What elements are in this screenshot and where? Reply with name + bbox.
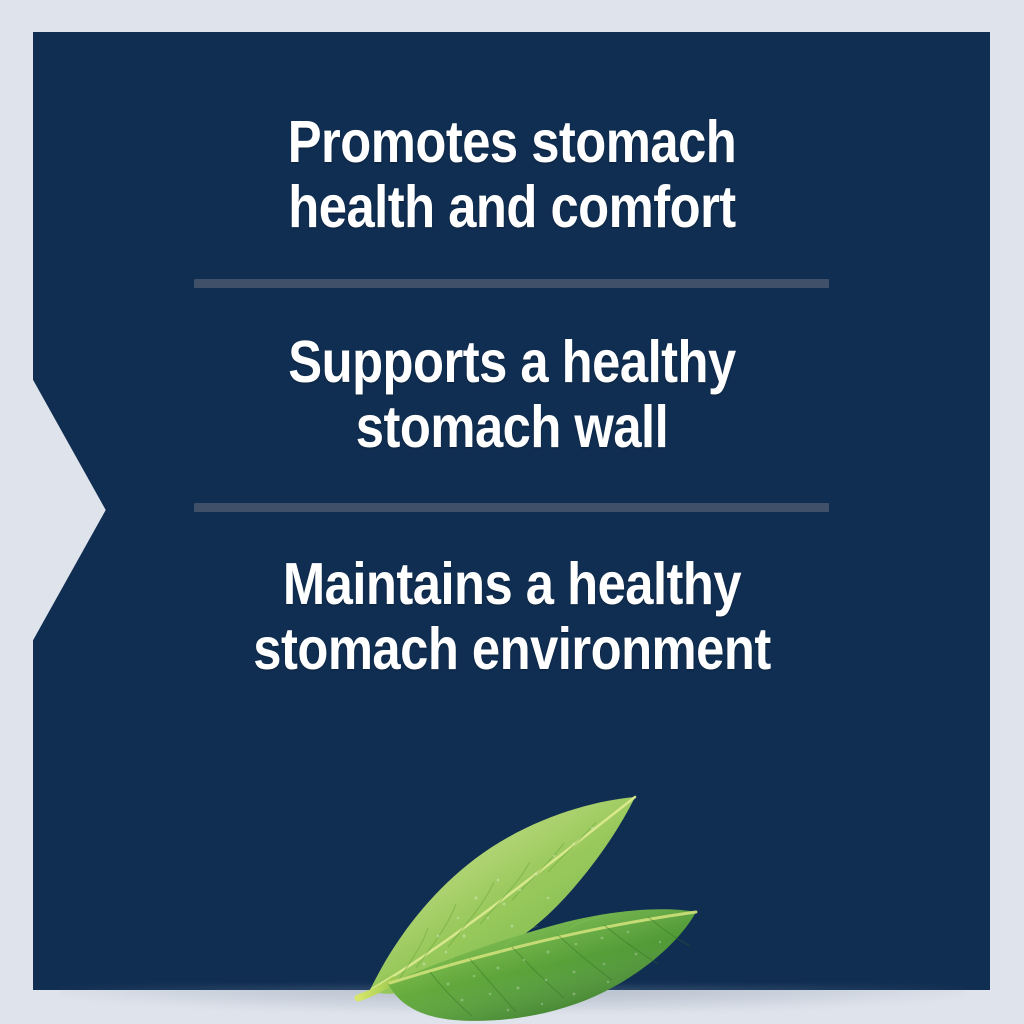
benefit-item-2: Supports a healthy stomach wall bbox=[228, 330, 796, 461]
benefits-card: Promotes stomach health and comfort Supp… bbox=[0, 0, 1024, 1024]
benefit-divider-2 bbox=[194, 503, 829, 512]
benefits-list: Promotes stomach health and comfort Supp… bbox=[33, 32, 990, 990]
benefit-divider-1 bbox=[194, 279, 829, 288]
benefit-item-3: Maintains a healthy stomach environment bbox=[228, 552, 796, 683]
benefit-item-1: Promotes stomach health and comfort bbox=[228, 110, 796, 241]
